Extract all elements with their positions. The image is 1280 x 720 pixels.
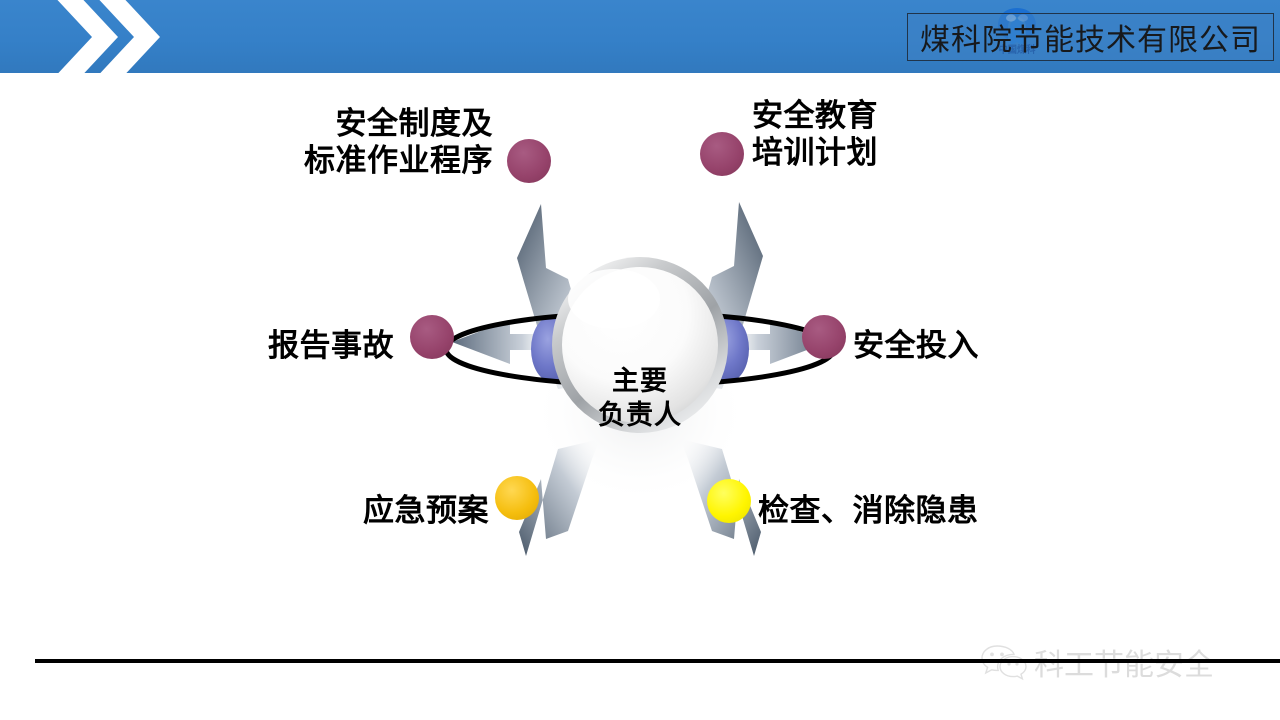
footer-divider xyxy=(35,659,1280,663)
node-dot-emergency-plan[interactable] xyxy=(495,476,539,520)
center-node-label: 主要 负责人 xyxy=(560,365,720,433)
company-name-box: 煤科院节能技术有限公司 xyxy=(907,13,1274,61)
node-label-safety-training-line1: 安全教育 xyxy=(752,98,878,135)
node-label-inspect-hazard[interactable]: 检查、消除隐患 xyxy=(758,493,979,530)
diagram-canvas: 主要 负责人 安全制度及 标准作业程序 安全教育 培训计划 报告事故 安全投入 … xyxy=(0,73,1280,663)
node-label-safety-system[interactable]: 安全制度及 标准作业程序 xyxy=(304,106,493,180)
node-label-safety-system-line2: 标准作业程序 xyxy=(304,143,493,180)
node-label-safety-training[interactable]: 安全教育 培训计划 xyxy=(752,98,878,172)
node-label-report-accident[interactable]: 报告事故 xyxy=(268,328,394,365)
node-label-safety-system-line1: 安全制度及 xyxy=(304,106,493,143)
node-dot-report-accident[interactable] xyxy=(410,315,454,359)
company-name-text: 煤科院节能技术有限公司 xyxy=(920,15,1261,59)
node-dot-safety-training[interactable] xyxy=(700,132,744,176)
node-dot-safety-system[interactable] xyxy=(507,139,551,183)
chevron-right-icon xyxy=(88,0,160,73)
node-label-safety-training-line2: 培训计划 xyxy=(752,135,878,172)
node-label-safety-input[interactable]: 安全投入 xyxy=(853,328,979,365)
node-dot-safety-input[interactable] xyxy=(802,315,846,359)
node-label-emergency-plan[interactable]: 应急预案 xyxy=(363,493,489,530)
node-dot-inspect-hazard[interactable] xyxy=(707,479,751,523)
center-node-label-line2: 负责人 xyxy=(560,399,720,433)
center-node-label-line1: 主要 xyxy=(560,365,720,399)
header-bar: 中国煤科 煤科院节能技术有限公司 xyxy=(0,0,1280,73)
